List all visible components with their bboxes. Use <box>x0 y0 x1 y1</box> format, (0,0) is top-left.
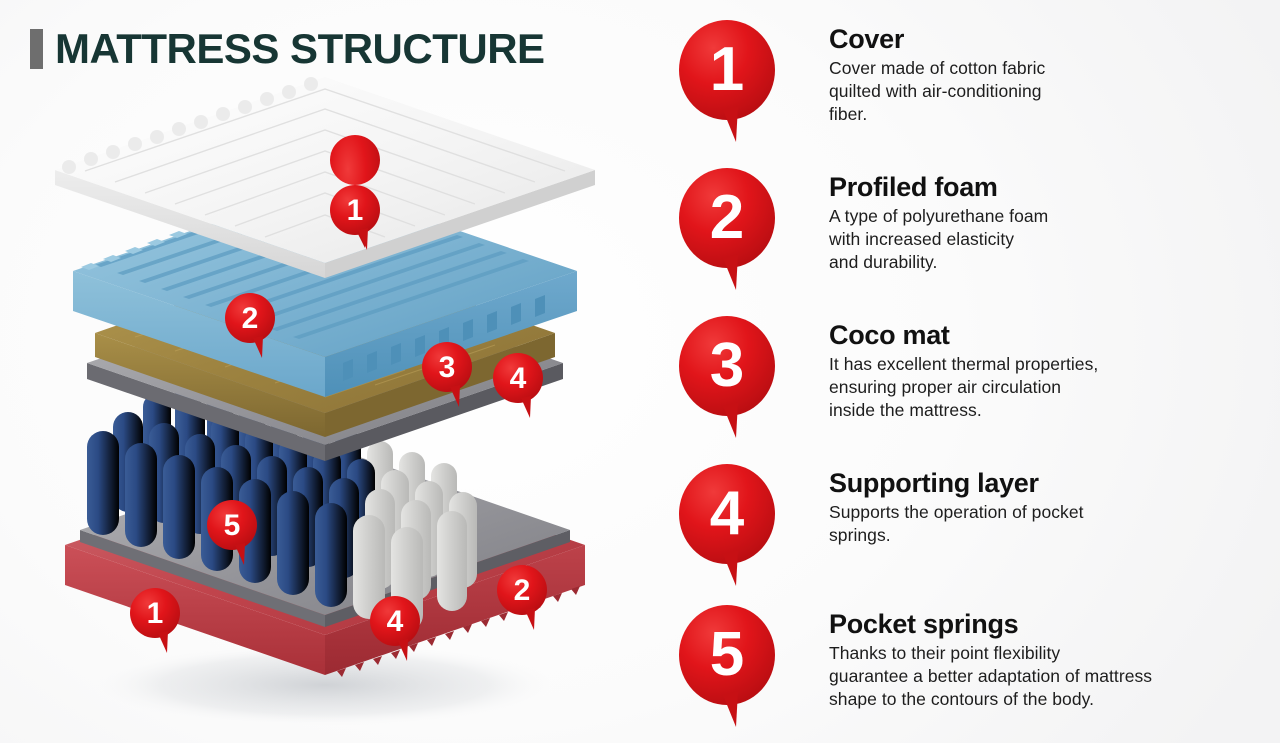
diagram-callout-1-base-foam: 1 <box>130 588 180 653</box>
diagram-callout-2-lower: 2 <box>497 565 547 630</box>
legend-desc-5: Thanks to their point flexibility guaran… <box>829 642 1259 711</box>
svg-text:2: 2 <box>514 574 531 607</box>
svg-text:3: 3 <box>439 351 456 384</box>
legend-desc-3: It has excellent thermal properties, ens… <box>829 353 1259 422</box>
page-title: MATTRESS STRUCTURE <box>30 25 545 73</box>
legend-list: 1 Cover Cover made of cotton fabric quil… <box>665 18 1265 738</box>
legend-desc-1: Cover made of cotton fabric quilted with… <box>829 57 1259 126</box>
legend-pin-2-icon: 2 <box>673 166 781 294</box>
legend-text-block-2: Profiled foam A type of polyurethane foa… <box>829 172 1259 274</box>
legend-pin-1-icon: 1 <box>673 18 781 146</box>
page-title-text: MATTRESS STRUCTURE <box>55 25 545 73</box>
legend-title-5: Pocket springs <box>829 609 1259 639</box>
legend-pin-number: 5 <box>710 620 744 689</box>
title-accent-bar <box>30 29 43 69</box>
legend-pin-4-icon: 4 <box>673 462 781 590</box>
legend-desc-2: A type of polyurethane foam with increas… <box>829 205 1259 274</box>
svg-text:2: 2 <box>242 302 259 335</box>
legend-title-3: Coco mat <box>829 320 1259 350</box>
legend-pin-number: 2 <box>710 183 744 252</box>
legend-text-block-4: Supporting layer Supports the operation … <box>829 468 1259 547</box>
svg-text:1: 1 <box>347 194 364 227</box>
svg-text:4: 4 <box>510 362 527 395</box>
infographic-page: MATTRESS STRUCTURE <box>0 0 1280 743</box>
legend-text-block-5: Pocket springs Thanks to their point fle… <box>829 609 1259 711</box>
legend-pin-number: 4 <box>710 479 745 548</box>
legend-pin-3-icon: 3 <box>673 314 781 442</box>
legend-title-1: Cover <box>829 24 1259 54</box>
legend-pin-number: 1 <box>710 35 744 104</box>
legend-text-block-1: Cover Cover made of cotton fabric quilte… <box>829 24 1259 126</box>
svg-text:5: 5 <box>224 509 241 542</box>
legend-pin-number: 3 <box>710 331 744 400</box>
legend-text-block-3: Coco mat It has excellent thermal proper… <box>829 320 1259 422</box>
legend-desc-4: Supports the operation of pocket springs… <box>829 501 1259 547</box>
diagram-callout-4-supporting-layer-upper: 4 <box>493 353 543 418</box>
svg-text:1: 1 <box>147 597 164 630</box>
svg-text:4: 4 <box>387 605 404 638</box>
legend-title-2: Profiled foam <box>829 172 1259 202</box>
mattress-exploded-illustration: 1 2 3 4 5 <box>25 75 625 725</box>
legend-pin-5-icon: 5 <box>673 603 781 731</box>
legend-title-4: Supporting layer <box>829 468 1259 498</box>
